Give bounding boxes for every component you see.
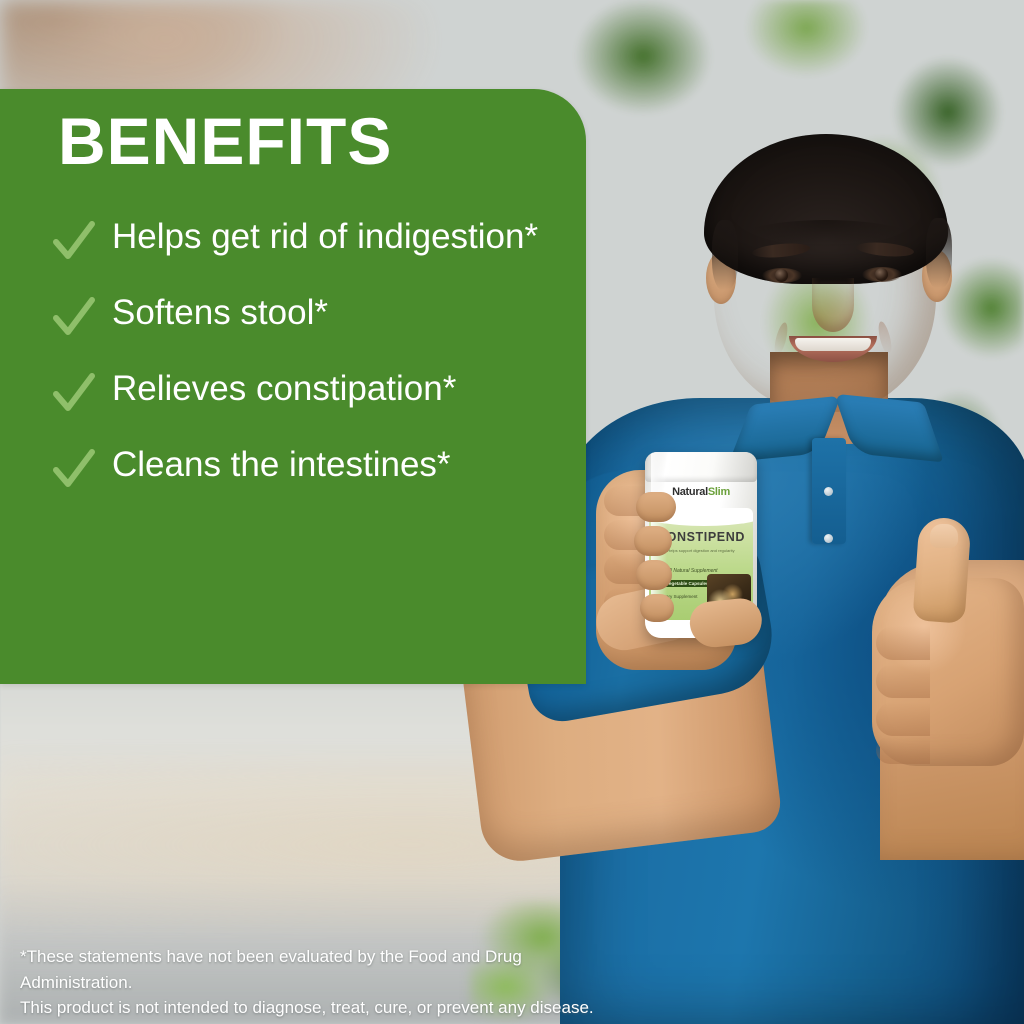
- brand-natural: Natural: [672, 486, 708, 498]
- product-subtitle: Helps support digestion and regularity: [657, 548, 745, 554]
- grip-finger-3: [636, 560, 672, 590]
- grip-finger-4: [640, 594, 674, 622]
- list-item: Softens stool*: [52, 290, 572, 340]
- pupil-left: [775, 269, 788, 282]
- list-item: Relieves constipation*: [52, 366, 572, 416]
- sideburn-left: [712, 220, 738, 290]
- benefit-label: Softens stool*: [112, 290, 328, 336]
- brand-slim: Slim: [708, 486, 730, 498]
- hair: [704, 134, 948, 284]
- pupil-right: [875, 268, 888, 281]
- page-title: BENEFITS: [58, 108, 392, 174]
- polo-button-top: [824, 487, 833, 496]
- benefits-list: Helps get rid of indigestion* Softens st…: [52, 214, 572, 518]
- teeth: [795, 338, 871, 351]
- polo-button-bottom: [824, 534, 833, 543]
- grip-finger-1: [636, 492, 676, 522]
- knuckle-2: [876, 664, 930, 698]
- grip-finger-2: [634, 526, 672, 556]
- check-icon: [52, 372, 96, 416]
- product-benefits-image: NaturalSlim CONSTIPEND Helps support dig…: [0, 0, 1024, 1024]
- benefit-label: Helps get rid of indigestion*: [112, 214, 538, 260]
- check-icon: [52, 220, 96, 264]
- disclaimer-line-2: This product is not intended to diagnose…: [20, 995, 620, 1021]
- check-icon: [52, 448, 96, 492]
- knuckle-1: [876, 626, 930, 660]
- benefit-label: Relieves constipation*: [112, 366, 456, 412]
- list-item: Helps get rid of indigestion*: [52, 214, 572, 264]
- sideburn-right: [926, 218, 952, 288]
- knuckle-3: [876, 702, 930, 736]
- disclaimer-line-1: *These statements have not been evaluate…: [20, 947, 522, 992]
- knuckle-4: [876, 736, 930, 764]
- benefit-label: Cleans the intestines*: [112, 442, 451, 488]
- disclaimer: *These statements have not been evaluate…: [20, 944, 620, 1021]
- list-item: Cleans the intestines*: [52, 442, 572, 492]
- check-icon: [52, 296, 96, 340]
- thumbnail: [930, 524, 958, 548]
- nose: [812, 278, 854, 332]
- chin: [790, 368, 878, 398]
